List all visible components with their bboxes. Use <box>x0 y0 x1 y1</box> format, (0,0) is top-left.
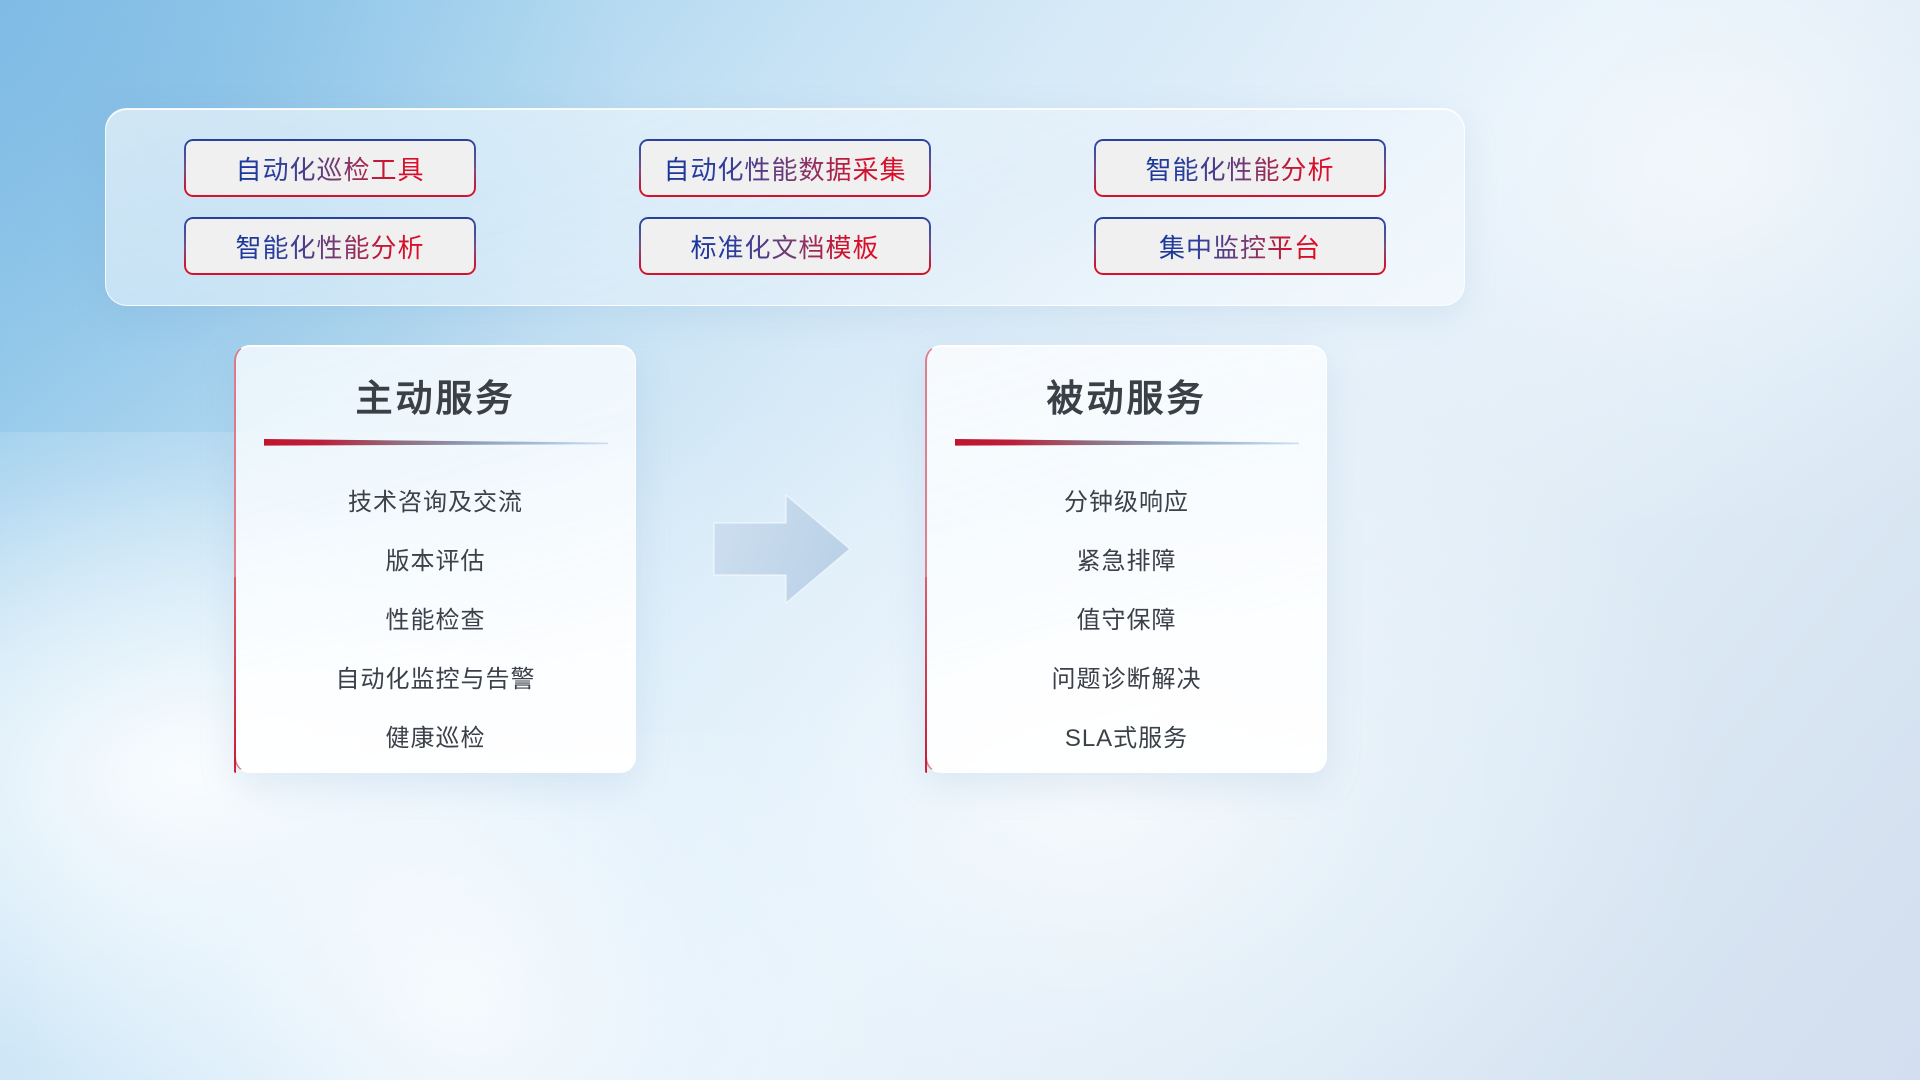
card-title: 主动服务 <box>236 368 635 422</box>
capability-tag-label: 智能化性能分析 <box>1145 150 1334 187</box>
card-item[interactable]: 版本评估 <box>236 532 635 591</box>
right-arrow-icon <box>712 489 852 609</box>
capability-row-2: 智能化性能分析 标准化文档模板 集中监控平台 <box>184 217 1386 275</box>
capability-panel: 自动化巡检工具 自动化性能数据采集 智能化性能分析 智能化性能分析 标准化文档模… <box>105 108 1465 306</box>
capability-tag[interactable]: 标准化文档模板 <box>639 217 931 275</box>
card-title: 被动服务 <box>927 368 1326 422</box>
capability-tag[interactable]: 自动化性能数据采集 <box>639 139 931 197</box>
card-divider <box>264 438 608 447</box>
capability-tag[interactable]: 集中监控平台 <box>1094 217 1386 275</box>
capability-tag-label: 智能化性能分析 <box>235 228 424 265</box>
capability-tag-label: 自动化巡检工具 <box>235 150 424 187</box>
card-item[interactable]: 值守保障 <box>927 591 1326 650</box>
card-item[interactable]: 问题诊断解决 <box>927 650 1326 709</box>
card-item-list: 技术咨询及交流 版本评估 性能检查 自动化监控与告警 健康巡检 <box>236 473 635 768</box>
card-item-list: 分钟级响应 紧急排障 值守保障 问题诊断解决 SLA式服务 <box>927 473 1326 768</box>
capability-tag[interactable]: 智能化性能分析 <box>1094 139 1386 197</box>
capability-tag-label: 集中监控平台 <box>1159 228 1321 265</box>
capability-tag-label: 标准化文档模板 <box>690 228 879 265</box>
card-item[interactable]: SLA式服务 <box>927 709 1326 768</box>
card-item[interactable]: 自动化监控与告警 <box>236 650 635 709</box>
card-item[interactable]: 紧急排障 <box>927 532 1326 591</box>
capability-tag[interactable]: 智能化性能分析 <box>184 217 476 275</box>
capability-tag[interactable]: 自动化巡检工具 <box>184 139 476 197</box>
card-item[interactable]: 分钟级响应 <box>927 473 1326 532</box>
diagram-stage: 自动化巡检工具 自动化性能数据采集 智能化性能分析 智能化性能分析 标准化文档模… <box>0 0 1920 1080</box>
capability-tag-label: 自动化性能数据采集 <box>663 150 906 187</box>
card-item[interactable]: 性能检查 <box>236 591 635 650</box>
card-item[interactable]: 技术咨询及交流 <box>236 473 635 532</box>
card-item[interactable]: 健康巡检 <box>236 709 635 768</box>
service-card-proactive: 主动服务 技术咨询及交流 版本评估 性能检查 <box>234 345 636 773</box>
card-divider <box>955 438 1299 447</box>
capability-row-1: 自动化巡检工具 自动化性能数据采集 智能化性能分析 <box>184 139 1386 197</box>
service-card-reactive: 被动服务 分钟级响应 紧急排障 值守保障 <box>925 345 1327 773</box>
